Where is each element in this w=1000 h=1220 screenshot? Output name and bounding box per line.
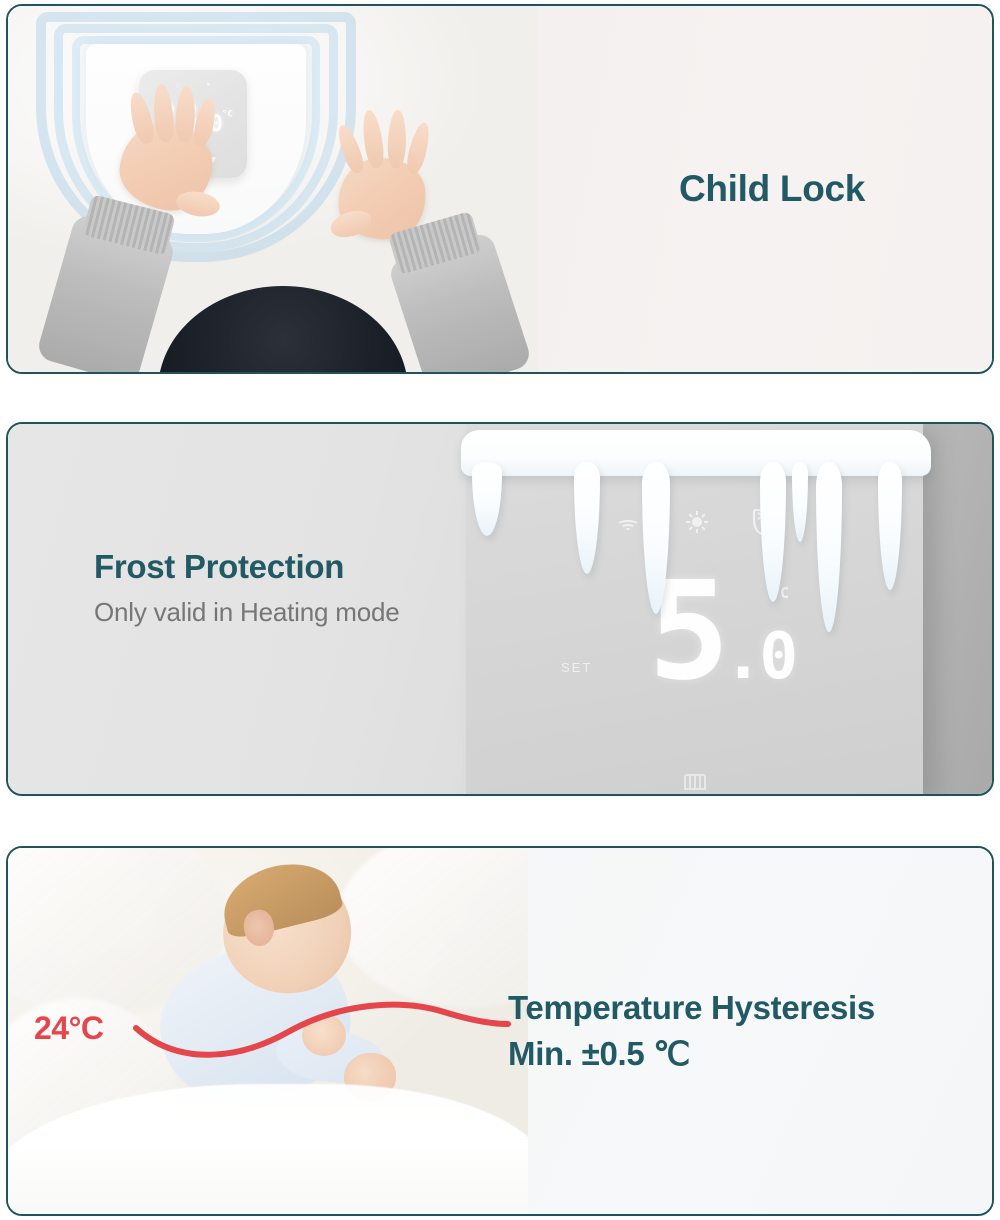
hysteresis-text-block: Temperature Hysteresis Min. ±0.5 ℃	[508, 848, 994, 1214]
panel-frost-protection: Frost Protection Only valid in Heating m…	[6, 422, 994, 796]
frost-text-block: Frost Protection Only valid in Heating m…	[94, 546, 514, 628]
lcd-temperature-value: 5.0	[466, 564, 923, 700]
thermostat-status-icons: ◇ ●	[139, 82, 247, 89]
bed-fold	[338, 848, 528, 1008]
sleeping-baby-photo: 24°C	[8, 848, 528, 1214]
temperature-badge: 24°C	[34, 1010, 104, 1047]
heating-icon	[684, 774, 706, 790]
panel-subtitle-frost-protection: Only valid in Heating mode	[94, 597, 514, 628]
frost-ice-bar	[461, 430, 931, 476]
mode-icon: ◇	[175, 82, 180, 89]
panel-temperature-hysteresis: 24°C Temperature Hysteresis Min. ±0.5 ℃	[6, 846, 994, 1216]
icicle	[574, 462, 600, 574]
lcd-icon-row	[466, 509, 923, 535]
lcd-value-fraction: .0	[724, 620, 795, 694]
child-lock-photo: ◇ ● 23.0°C ▲ ▼	[8, 6, 538, 372]
temperature-unit: °C	[222, 110, 233, 120]
panel-title-child-lock: Child Lock	[548, 6, 994, 372]
power-icon: ●	[207, 82, 211, 89]
thermostat-lcd-panel[interactable]: °C SET 5.0	[466, 424, 923, 796]
panel-child-lock: ◇ ● 23.0°C ▲ ▼	[6, 4, 994, 374]
panel-title-frost-protection: Frost Protection	[94, 546, 514, 587]
wifi-icon	[615, 512, 641, 532]
product-feature-page: ◇ ● 23.0°C ▲ ▼	[0, 0, 1000, 1220]
panel-title-hysteresis-line1: Temperature Hysteresis	[508, 988, 994, 1028]
sun-icon	[685, 510, 709, 534]
panel-title-hysteresis-line2: Min. ±0.5 ℃	[508, 1034, 994, 1074]
